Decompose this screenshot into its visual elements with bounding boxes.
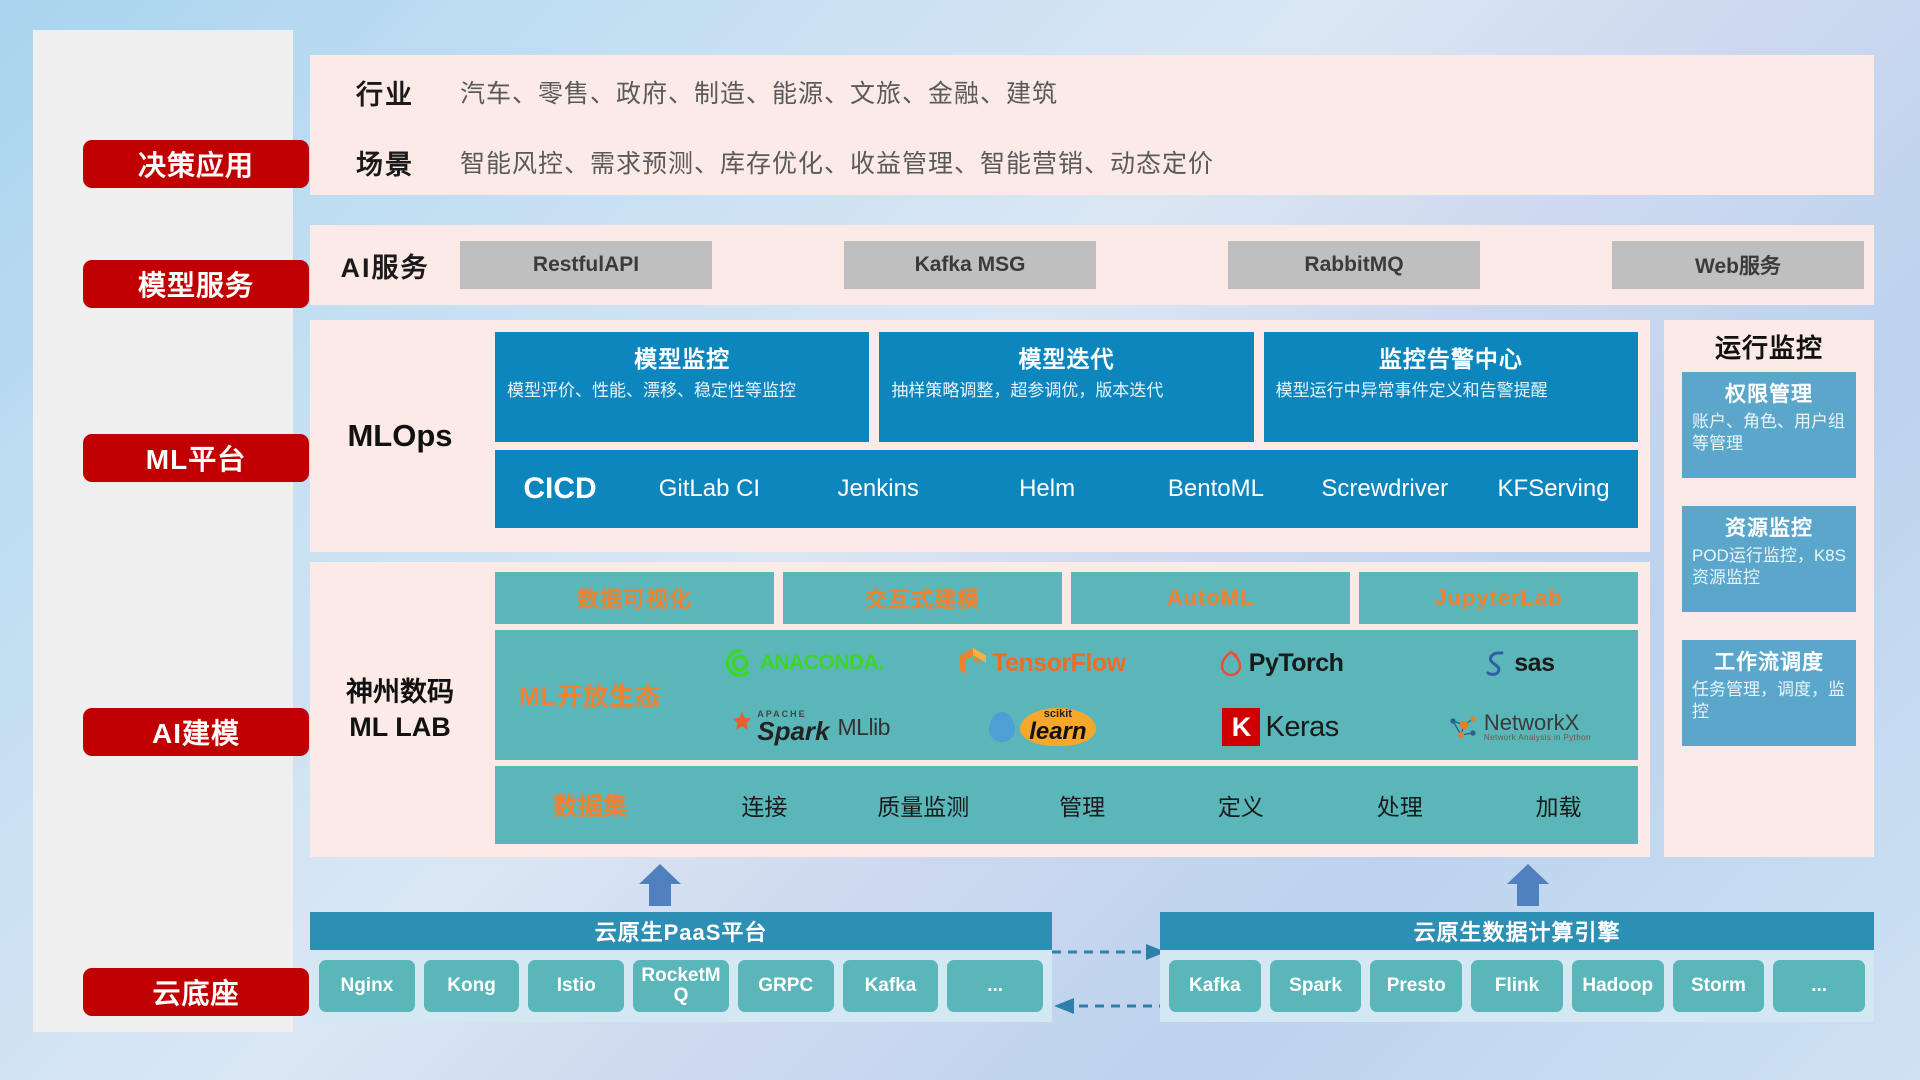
dataset-item-management[interactable]: 管理 [1003,788,1162,822]
keras-wordmark: Keras [1265,711,1338,744]
rail-tag-label: 云底座 [152,972,239,1012]
cloud-chip-kong[interactable]: Kong [424,960,520,1012]
rail-tag-label: ML平台 [146,438,246,478]
ai-service-label: AI服务 [310,246,460,285]
runtime-card-workflow-scheduling[interactable]: 工作流调度 任务管理，调度，监控 [1682,640,1856,746]
card-title: 模型监控 [507,340,857,374]
spark-wordmark: Spark [757,719,829,744]
tab-automl[interactable]: AutoML [1071,572,1350,624]
dataset-item-connect[interactable]: 连接 [685,788,844,822]
ai-service-panel: AI服务 RestfulAPI Kafka MSG RabbitMQ Web服务 [310,225,1874,305]
networkx-graph-icon [1447,712,1479,742]
cloud-chip-istio[interactable]: Istio [528,960,624,1012]
cloud-chip-more[interactable]: ... [947,960,1043,1012]
card-desc: 模型运行中异常事件定义和告警提醒 [1276,380,1626,403]
data-chip-hadoop[interactable]: Hadoop [1572,960,1664,1012]
card-desc: 模型评价、性能、漂移、稳定性等监控 [507,380,857,403]
runtime-monitoring-title: 运行监控 [1664,328,1874,365]
scenario-values: 智能风控、需求预测、库存优化、收益管理、智能营销、动态定价 [460,144,1214,180]
rail-tag-cloud-base[interactable]: 云底座 [83,968,309,1016]
card-desc: POD运行监控，K8S资源监控 [1692,545,1846,590]
spark-mllib-logo: APACHE Spark MLlib [718,710,890,744]
spark-star-icon [718,710,752,744]
mlops-card-model-monitoring[interactable]: 模型监控 模型评价、性能、漂移、稳定性等监控 [495,332,869,442]
anaconda-logo: ANACONDA. [725,648,884,678]
card-desc: 账户、角色、用户组等管理 [1692,411,1846,456]
dashed-arrow-right-icon [1050,940,1170,1025]
industry-values: 汽车、零售、政府、制造、能源、文旅、金融、建筑 [460,74,1058,110]
dataset-item-definition[interactable]: 定义 [1161,788,1320,822]
ml-lab-label-line2: ML LAB [349,710,451,745]
runtime-monitoring-panel: 运行监控 权限管理 账户、角色、用户组等管理 资源监控 POD运行监控，K8S资… [1664,320,1874,857]
ml-lab-label-line1: 神州数码 [346,675,454,710]
dataset-bar: 数据集 连接 质量监测 管理 定义 处理 加载 [495,766,1638,844]
card-title: 权限管理 [1692,378,1846,408]
industry-label: 行业 [310,73,460,112]
application-layer-panel: 行业 汽车、零售、政府、制造、能源、文旅、金融、建筑 场景 智能风控、需求预测、… [310,55,1874,195]
ml-lab-label: 神州数码 ML LAB [310,562,490,857]
cicd-item-screwdriver[interactable]: Screwdriver [1300,477,1469,501]
cicd-item-jenkins[interactable]: Jenkins [794,477,963,501]
service-chip-web-service[interactable]: Web服务 [1612,241,1864,289]
cicd-item-gitlab-ci[interactable]: GitLab CI [625,477,794,501]
ml-lab-tab-list: 数据可视化 交互式建模 AutoML JupyterLab [495,572,1638,624]
data-chip-flink[interactable]: Flink [1471,960,1563,1012]
mlops-card-alert-center[interactable]: 监控告警中心 模型运行中异常事件定义和告警提醒 [1264,332,1638,442]
cloud-paas-block: 云原生PaaS平台 Nginx Kong Istio RocketMQ GRPC… [310,890,1052,1050]
scikit-blue-blob-icon [989,712,1015,742]
networkx-logo: NetworkX Network Analysis in Python [1447,712,1591,742]
scikit-learn-logo: scikit learn [989,708,1095,746]
tensorflow-mark-icon [959,647,987,679]
service-chip-kafka-msg[interactable]: Kafka MSG [844,241,1096,289]
card-title: 工作流调度 [1692,646,1846,676]
ml-logo-grid: ANACONDA. TensorFlow [685,631,1638,759]
runtime-card-permission-management[interactable]: 权限管理 账户、角色、用户组等管理 [1682,372,1856,478]
rail-tag-decision-app[interactable]: 决策应用 [83,140,309,188]
industry-row: 行业 汽车、零售、政府、制造、能源、文旅、金融、建筑 [310,57,1874,127]
data-chip-storm[interactable]: Storm [1673,960,1765,1012]
card-title: 监控告警中心 [1276,340,1626,374]
networkx-wordmark: NetworkX [1484,712,1579,734]
scenario-row: 场景 智能风控、需求预测、库存优化、收益管理、智能营销、动态定价 [310,127,1874,197]
dataset-title: 数据集 [495,787,685,823]
networkx-tagline: Network Analysis in Python [1484,734,1591,742]
tab-data-visualization[interactable]: 数据可视化 [495,572,774,624]
mlops-card-model-iteration[interactable]: 模型迭代 抽样策略调整，超参调优，版本迭代 [879,332,1253,442]
pytorch-wordmark: PyTorch [1249,649,1344,678]
cloud-chip-nginx[interactable]: Nginx [319,960,415,1012]
data-chip-kafka[interactable]: Kafka [1169,960,1261,1012]
rail-tag-ml-platform[interactable]: ML平台 [83,434,309,482]
scenario-label: 场景 [310,143,460,182]
ml-open-ecosystem-label: ML开放生态 [495,677,685,713]
ml-lab-panel: 神州数码 ML LAB 数据可视化 交互式建模 AutoML JupyterLa… [310,562,1650,857]
data-chip-presto[interactable]: Presto [1370,960,1462,1012]
ml-open-ecosystem: ML开放生态 ANACONDA. [495,630,1638,760]
data-chip-spark[interactable]: Spark [1270,960,1362,1012]
mlops-card-list: 模型监控 模型评价、性能、漂移、稳定性等监控 模型迭代 抽样策略调整，超参调优，… [495,332,1638,442]
card-desc: 任务管理，调度，监控 [1692,679,1846,724]
dataset-item-quality-monitoring[interactable]: 质量监测 [844,788,1003,822]
sas-wordmark: sas [1514,649,1554,678]
rail-tag-ai-modeling[interactable]: AI建模 [83,708,309,756]
keras-logo: K Keras [1222,708,1338,746]
data-chip-more[interactable]: ... [1773,960,1865,1012]
cloud-chip-grpc[interactable]: GRPC [738,960,834,1012]
cloud-data-engine-block: 云原生数据计算引擎 Kafka Spark Presto Flink Hadoo… [1160,890,1874,1050]
left-rail: 决策应用 模型服务 ML平台 AI建模 云底座 [33,30,293,1032]
cicd-item-helm[interactable]: Helm [963,477,1132,501]
rail-tag-label: 决策应用 [138,144,254,184]
cicd-item-kfserving[interactable]: KFServing [1469,477,1638,501]
card-title: 模型迭代 [891,340,1241,374]
anaconda-wordmark: ANACONDA. [760,651,884,675]
mllib-wordmark: MLlib [838,714,890,741]
rail-tag-label: AI建模 [152,712,240,752]
cicd-bar: CICD GitLab CI Jenkins Helm BentoML Scre… [495,450,1638,528]
cloud-paas-header: 云原生PaaS平台 [310,912,1052,950]
anaconda-mark-icon [725,648,755,678]
service-chip-rabbitmq[interactable]: RabbitMQ [1228,241,1480,289]
sas-mark-icon [1483,648,1509,678]
rail-tag-model-service[interactable]: 模型服务 [83,260,309,308]
keras-mark-icon: K [1222,708,1260,746]
cloud-paas-chip-list: Nginx Kong Istio RocketMQ GRPC Kafka ... [310,950,1052,1022]
cloud-data-engine-header: 云原生数据计算引擎 [1160,912,1874,950]
architecture-diagram: 决策应用 模型服务 ML平台 AI建模 云底座 行业 汽车、零售、政府、制造、能… [0,0,1920,1080]
card-desc: 抽样策略调整，超参调优，版本迭代 [891,380,1241,403]
dataset-item-loading[interactable]: 加载 [1479,788,1638,822]
cicd-title: CICD [495,472,625,506]
sas-logo: sas [1483,648,1554,678]
cicd-item-bentoml[interactable]: BentoML [1131,477,1300,501]
cloud-chip-rocketmq[interactable]: RocketMQ [633,960,729,1012]
mlops-label: MLOps [310,320,490,552]
mlops-panel: MLOps 模型监控 模型评价、性能、漂移、稳定性等监控 模型迭代 抽样策略调整… [310,320,1650,552]
pytorch-flame-icon [1218,648,1244,678]
tensorflow-logo: TensorFlow [959,647,1125,679]
learn-wordmark: learn [1029,720,1086,744]
runtime-card-resource-monitoring[interactable]: 资源监控 POD运行监控，K8S资源监控 [1682,506,1856,612]
tab-jupyterlab[interactable]: JupyterLab [1359,572,1638,624]
tensorflow-wordmark: TensorFlow [992,649,1125,678]
service-chip-restfulapi[interactable]: RestfulAPI [460,241,712,289]
rail-tag-label: 模型服务 [138,264,254,304]
card-title: 资源监控 [1692,512,1846,542]
tab-interactive-modeling[interactable]: 交互式建模 [783,572,1062,624]
cloud-data-engine-chip-list: Kafka Spark Presto Flink Hadoop Storm ..… [1160,950,1874,1022]
pytorch-logo: PyTorch [1218,648,1344,678]
dataset-item-processing[interactable]: 处理 [1320,788,1479,822]
cloud-chip-kafka[interactable]: Kafka [843,960,939,1012]
